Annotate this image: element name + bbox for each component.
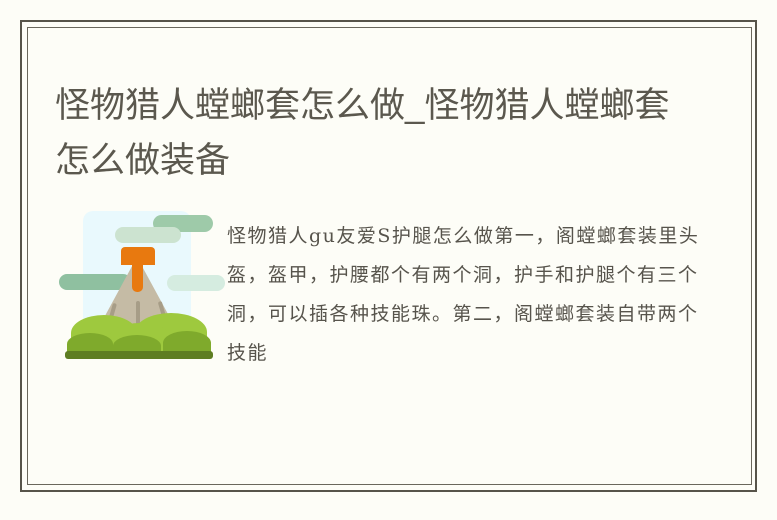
illustration-stage — [83, 211, 203, 359]
article-body-block: 怪物猎人gu友爱S护腿怎么做第一，阁螳螂套装里头盔，盔甲，护腰都个有两个洞，护手… — [55, 201, 715, 373]
ground-icon — [65, 351, 213, 359]
article-page: 怪物猎人螳螂套怎么做_怪物猎人螳螂套怎么做装备 — [0, 0, 777, 520]
page-title: 怪物猎人螳螂套怎么做_怪物猎人螳螂套怎么做装备 — [55, 78, 695, 188]
volcano-illustration — [55, 201, 215, 361]
lava-flow-icon — [132, 260, 143, 292]
page-content: 怪物猎人螳螂套怎么做_怪物猎人螳螂套怎么做装备 — [27, 27, 752, 485]
article-body-text: 怪物猎人gu友爱S护腿怎么做第一，阁螳螂套装里头盔，盔甲，护腰都个有两个洞，护手… — [227, 201, 715, 373]
cloud-icon — [115, 227, 181, 243]
